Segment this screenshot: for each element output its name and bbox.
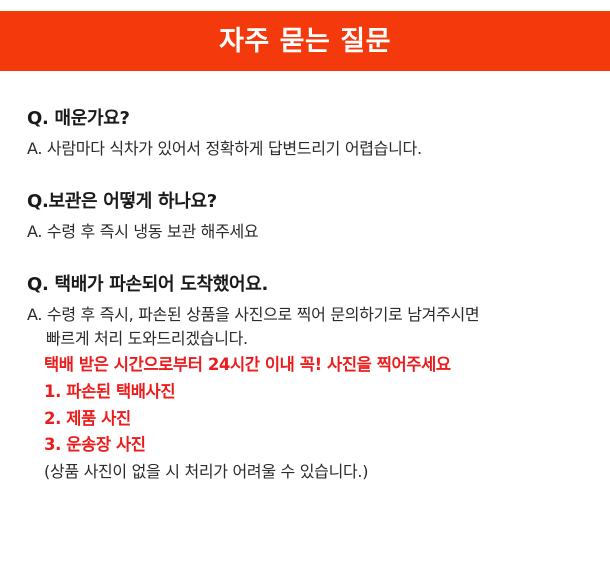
list-item: 2. 제품 사진 (44, 406, 587, 433)
list-item: 1. 파손된 택배사진 (44, 379, 587, 406)
faq-header-title: 자주 묻는 질문 (219, 28, 391, 55)
faq-content: Q. 매운가요? A. 사람마다 식차가 있어서 정확하게 답변드리기 어렵습니… (27, 105, 587, 511)
faq-answer: A. 수령 후 즉시, 파손된 상품을 사진으로 찍어 문의하기로 남겨주시면 (27, 303, 587, 328)
faq-answer: A. 수령 후 즉시 냉동 보관 해주세요 (27, 220, 587, 245)
faq-answer: A. 사람마다 식차가 있어서 정확하게 답변드리기 어렵습니다. (27, 137, 587, 162)
faq-item-spiciness: Q. 매운가요? A. 사람마다 식차가 있어서 정확하게 답변드리기 어렵습니… (27, 105, 587, 162)
faq-photo-requirements-list: 1. 파손된 택배사진 2. 제품 사진 3. 운송장 사진 (27, 379, 587, 459)
faq-page: 자주 묻는 질문 Q. 매운가요? A. 사람마다 식차가 있어서 정확하게 답… (0, 0, 610, 581)
faq-question: Q.보관은 어떻게 하나요? (27, 188, 587, 215)
faq-header-banner: 자주 묻는 질문 (0, 11, 610, 71)
faq-answer-continuation: 빠르게 처리 도와드리겠습니다. (27, 327, 587, 352)
faq-highlight-notice: 택배 받은 시간으로부터 24시간 이내 꼭! 사진을 찍어주세요 (27, 352, 587, 379)
faq-question: Q. 택배가 파손되어 도착했어요. (27, 271, 587, 298)
list-item: 3. 운송장 사진 (44, 432, 587, 459)
faq-question: Q. 매운가요? (27, 105, 587, 132)
faq-item-damaged-delivery: Q. 택배가 파손되어 도착했어요. A. 수령 후 즉시, 파손된 상품을 사… (27, 271, 587, 485)
faq-footnote: (상품 사진이 없을 시 처리가 어려울 수 있습니다.) (27, 459, 587, 485)
faq-item-storage: Q.보관은 어떻게 하나요? A. 수령 후 즉시 냉동 보관 해주세요 (27, 188, 587, 245)
